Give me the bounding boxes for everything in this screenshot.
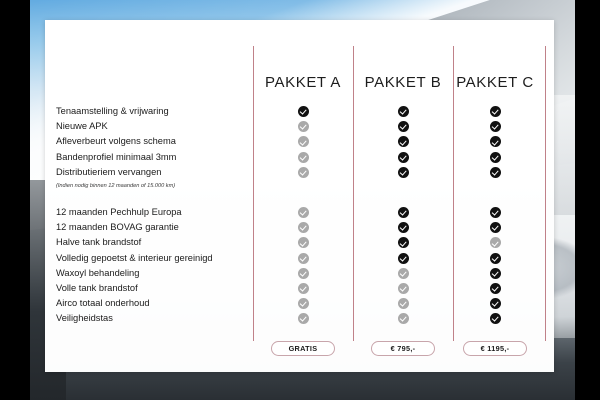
check-excluded-icon bbox=[398, 313, 409, 324]
check-included-icon bbox=[490, 167, 501, 178]
check-included-icon bbox=[398, 136, 409, 147]
check-cell bbox=[445, 134, 545, 149]
check-cell bbox=[445, 251, 545, 266]
check-cell bbox=[253, 119, 353, 134]
check-cell bbox=[445, 281, 545, 296]
check-cell bbox=[253, 220, 353, 235]
check-excluded-icon bbox=[298, 152, 309, 163]
check-cell bbox=[353, 119, 453, 134]
check-excluded-icon bbox=[398, 268, 409, 279]
check-cell bbox=[253, 281, 353, 296]
check-cell bbox=[253, 266, 353, 281]
check-cell bbox=[253, 311, 353, 326]
check-cell bbox=[353, 220, 453, 235]
check-excluded-icon bbox=[298, 313, 309, 324]
check-cell bbox=[353, 150, 453, 165]
check-group-spacer bbox=[445, 192, 545, 205]
check-included-icon bbox=[398, 167, 409, 178]
check-cell bbox=[253, 104, 353, 119]
check-included-icon bbox=[298, 106, 309, 117]
check-included-icon bbox=[490, 136, 501, 147]
check-included-icon bbox=[398, 152, 409, 163]
check-excluded-icon bbox=[298, 136, 309, 147]
check-included-icon bbox=[490, 106, 501, 117]
check-excluded-icon bbox=[298, 237, 309, 248]
check-cell bbox=[353, 134, 453, 149]
check-cell bbox=[445, 205, 545, 220]
check-cell bbox=[445, 150, 545, 165]
check-cell bbox=[445, 311, 545, 326]
column-divider-4 bbox=[545, 46, 546, 341]
check-excluded-icon bbox=[490, 237, 501, 248]
check-group-spacer bbox=[253, 192, 353, 205]
check-included-icon bbox=[490, 222, 501, 233]
check-cell bbox=[353, 281, 453, 296]
check-included-icon bbox=[398, 207, 409, 218]
check-cell bbox=[445, 220, 545, 235]
package-comparison-card: PAKKET APAKKET BPAKKET CTenaamstelling &… bbox=[45, 20, 554, 372]
price-button-a[interactable]: GRATIS bbox=[271, 341, 335, 356]
check-excluded-icon bbox=[398, 298, 409, 309]
check-cell bbox=[445, 104, 545, 119]
check-cell bbox=[253, 205, 353, 220]
check-included-icon bbox=[398, 253, 409, 264]
check-included-icon bbox=[398, 121, 409, 132]
column-header-c: PAKKET C bbox=[445, 74, 545, 91]
check-cell bbox=[353, 266, 453, 281]
check-cell bbox=[253, 150, 353, 165]
price-button-c[interactable]: € 1195,- bbox=[463, 341, 527, 356]
check-excluded-icon bbox=[298, 207, 309, 218]
check-included-icon bbox=[490, 298, 501, 309]
check-included-icon bbox=[398, 106, 409, 117]
column-header-b: PAKKET B bbox=[353, 74, 453, 91]
check-included-icon bbox=[490, 283, 501, 294]
check-column-b bbox=[353, 104, 453, 326]
price-button-b[interactable]: € 795,- bbox=[371, 341, 435, 356]
check-cell bbox=[253, 165, 353, 180]
check-cell bbox=[253, 134, 353, 149]
check-note-gap bbox=[445, 180, 545, 192]
check-excluded-icon bbox=[298, 167, 309, 178]
check-cell bbox=[353, 235, 453, 250]
check-excluded-icon bbox=[398, 283, 409, 294]
check-included-icon bbox=[490, 152, 501, 163]
check-cell bbox=[253, 296, 353, 311]
column-header-a: PAKKET A bbox=[253, 74, 353, 91]
check-column-c bbox=[445, 104, 545, 326]
check-cell bbox=[353, 205, 453, 220]
check-excluded-icon bbox=[298, 222, 309, 233]
check-cell bbox=[353, 104, 453, 119]
check-column-a bbox=[253, 104, 353, 326]
check-cell bbox=[445, 165, 545, 180]
screenshot-viewport: VAKGARAGE GIEL PAKKET APAKKET BPAKKET CT… bbox=[0, 0, 600, 400]
check-cell bbox=[353, 251, 453, 266]
check-group-spacer bbox=[353, 192, 453, 205]
check-cell bbox=[253, 235, 353, 250]
check-cell bbox=[445, 235, 545, 250]
check-excluded-icon bbox=[298, 121, 309, 132]
check-included-icon bbox=[398, 237, 409, 248]
check-cell bbox=[253, 251, 353, 266]
check-cell bbox=[445, 296, 545, 311]
check-included-icon bbox=[490, 121, 501, 132]
check-included-icon bbox=[490, 207, 501, 218]
check-cell bbox=[445, 266, 545, 281]
check-note-gap bbox=[253, 180, 353, 192]
check-included-icon bbox=[490, 253, 501, 264]
check-cell bbox=[445, 119, 545, 134]
check-excluded-icon bbox=[298, 253, 309, 264]
check-included-icon bbox=[490, 313, 501, 324]
check-cell bbox=[353, 296, 453, 311]
check-included-icon bbox=[490, 268, 501, 279]
check-cell bbox=[353, 165, 453, 180]
check-excluded-icon bbox=[298, 298, 309, 309]
check-note-gap bbox=[353, 180, 453, 192]
check-included-icon bbox=[398, 222, 409, 233]
card-content: PAKKET APAKKET BPAKKET CTenaamstelling &… bbox=[45, 20, 554, 372]
check-excluded-icon bbox=[298, 283, 309, 294]
check-cell bbox=[353, 311, 453, 326]
check-excluded-icon bbox=[298, 268, 309, 279]
